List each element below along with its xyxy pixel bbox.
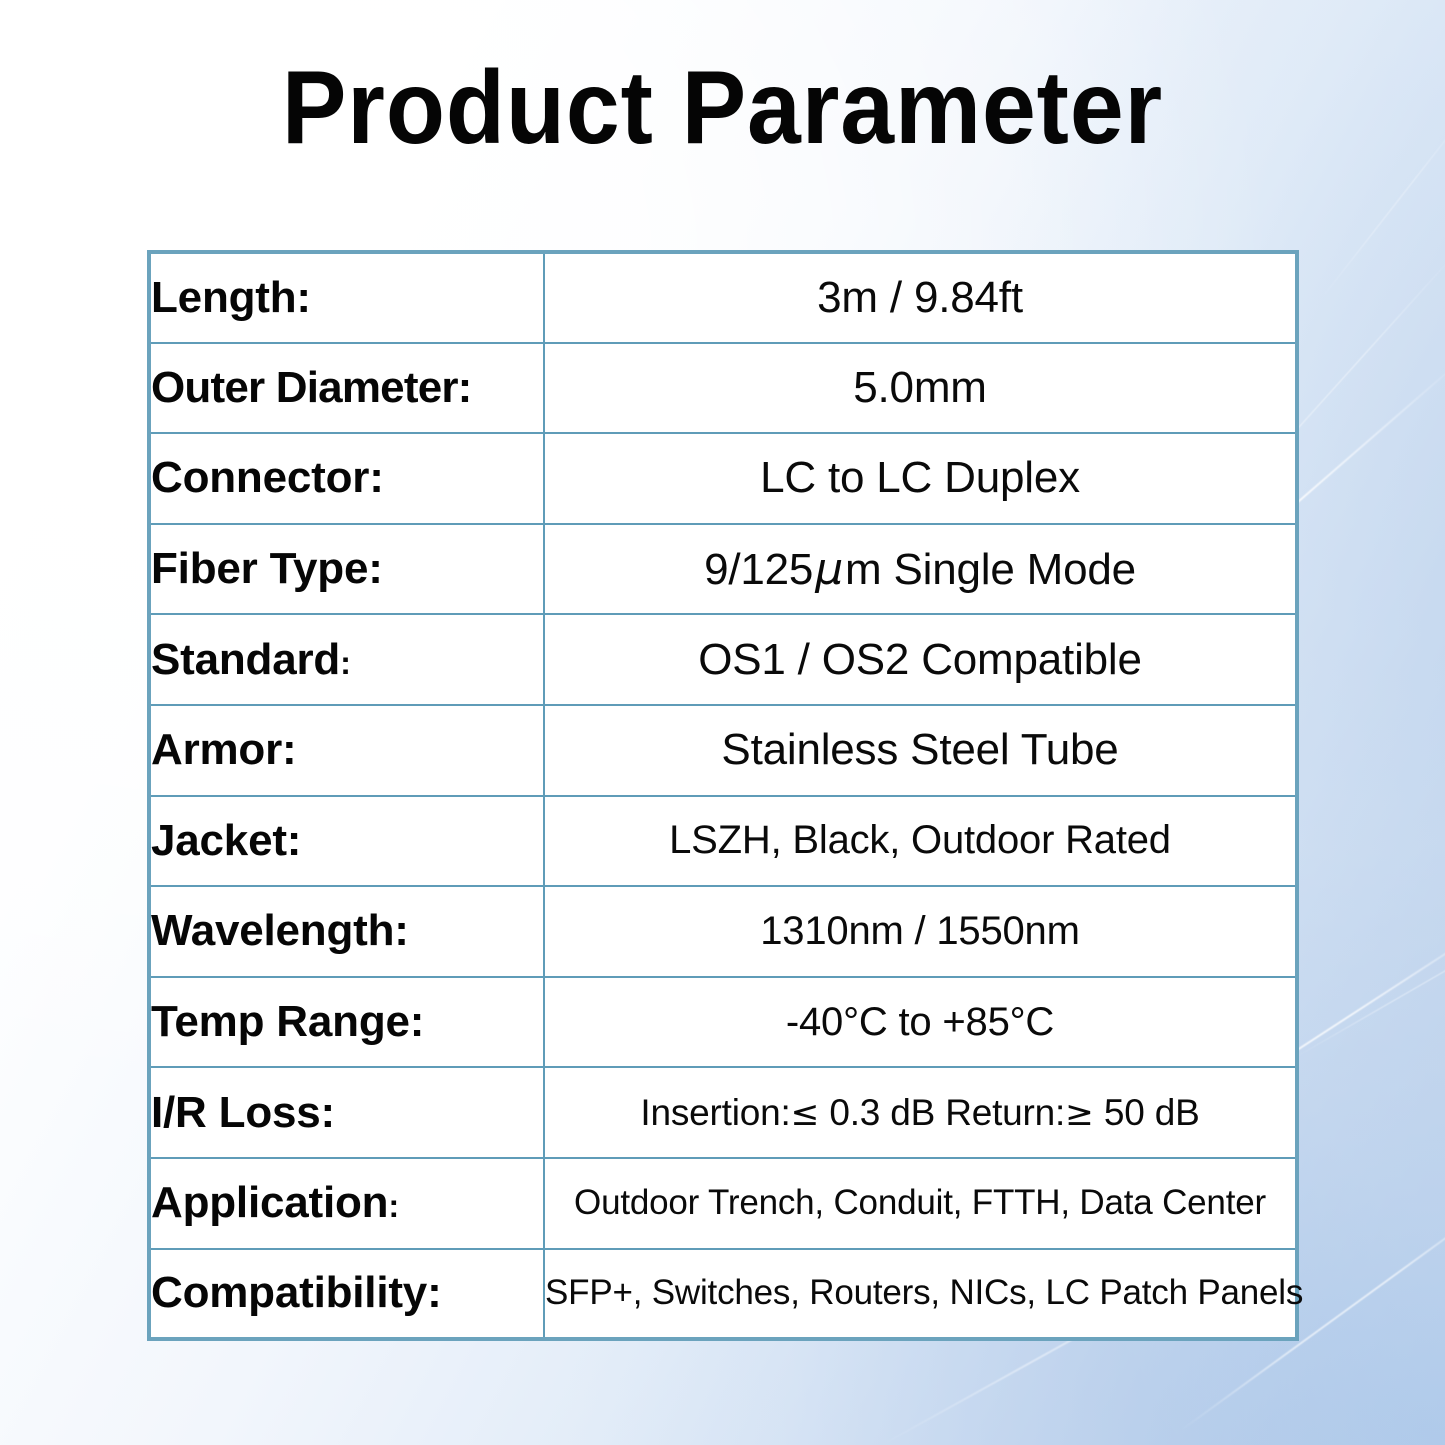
spec-value-armor: Stainless Steel Tube [544,705,1297,796]
table-row: Armor: Stainless Steel Tube [149,705,1297,796]
table-row: I/R Loss: Insertion:≤ 0.3 dB Return:≥ 50… [149,1067,1297,1158]
spec-value-standard: OS1 / OS2 Compatible [544,614,1297,705]
spec-label-length: Length: [149,252,544,343]
spec-value-temp-range: -40°C to +85°C [544,977,1297,1068]
spec-label-wavelength: Wavelength: [149,886,544,977]
table-row: Jacket: LSZH, Black, Outdoor Rated [149,796,1297,887]
page-title: Product Parameter [51,52,1395,164]
spec-value-wavelength: 1310nm / 1550nm [544,886,1297,977]
table-row: Outer Diameter: 5.0mm [149,343,1297,434]
spec-value-ir-loss-text: Insertion:≤ 0.3 dB Return:≥ 50 dB [640,1092,1199,1133]
spec-value-application: Outdoor Trench, Conduit, FTTH, Data Cent… [544,1158,1297,1249]
table-row: Connector: LC to LC Duplex [149,433,1297,524]
table-body: Length: 3m / 9.84ft Outer Diameter: 5.0m… [149,252,1297,1339]
spec-label-standard: Standard: [149,614,544,705]
spec-label-ir-loss: I/R Loss: [149,1067,544,1158]
spec-label-temp-range: Temp Range: [149,977,544,1068]
spec-value-fiber-type: 9/125μm Single Mode [544,524,1297,615]
product-parameter-table: Length: 3m / 9.84ft Outer Diameter: 5.0m… [147,250,1299,1341]
product-parameter-page: Product Parameter Length: 3m / 9.84ft Ou… [0,0,1445,1445]
spec-label-compatibility: Compatibility: [149,1249,544,1340]
spec-label-jacket: Jacket: [149,796,544,887]
table-row: Application: Outdoor Trench, Conduit, FT… [149,1158,1297,1249]
spec-value-connector: LC to LC Duplex [544,433,1297,524]
spec-label-application: Application: [149,1158,544,1249]
table-row: Compatibility: SFP+, Switches, Routers, … [149,1249,1297,1340]
spec-value-jacket: LSZH, Black, Outdoor Rated [544,796,1297,887]
spec-label-fiber-type: Fiber Type: [149,524,544,615]
spec-value-compatibility: SFP+, Switches, Routers, NICs, LC Patch … [544,1249,1297,1340]
table-row: Length: 3m / 9.84ft [149,252,1297,343]
spec-value-outer-diameter: 5.0mm [544,343,1297,434]
table-row: Temp Range: -40°C to +85°C [149,977,1297,1068]
spec-label-connector: Connector: [149,433,544,524]
table-row: Fiber Type: 9/125μm Single Mode [149,524,1297,615]
table-row: Wavelength: 1310nm / 1550nm [149,886,1297,977]
spec-value-fiber-type-text: 9/125μm Single Mode [704,545,1136,594]
spec-label-outer-diameter: Outer Diameter: [149,343,544,434]
spec-label-armor: Armor: [149,705,544,796]
spec-value-ir-loss: Insertion:≤ 0.3 dB Return:≥ 50 dB [544,1067,1297,1158]
table-row: Standard: OS1 / OS2 Compatible [149,614,1297,705]
spec-value-length: 3m / 9.84ft [544,252,1297,343]
